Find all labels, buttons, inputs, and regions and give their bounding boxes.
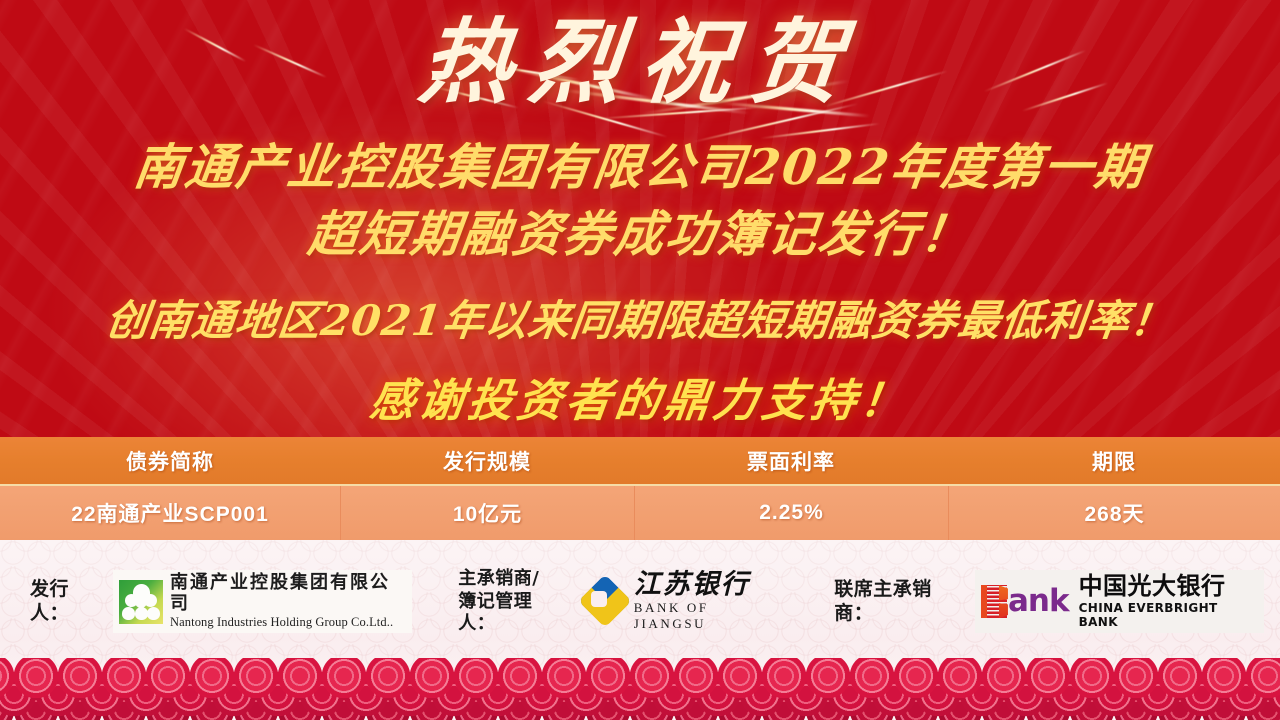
joint-underwriter-group: 联席主承销商： ank 中国光大银行 CHINA EVERBRIGHT BANK — [834, 570, 1264, 633]
bank-of-jiangsu-logo-icon — [580, 580, 628, 624]
celebration-poster: 热烈祝贺 南通产业控股集团有限公司2022年度第一期 超短期融资券成功簿记发行！… — [0, 0, 1280, 720]
footer-panel: 发行人： 南通产业控股集团有限公司 Nantong Industries Hol… — [0, 540, 1280, 720]
poster-title-area: 热烈祝贺 — [0, 14, 1280, 112]
lead-underwriter-label: 主承销商/ 簿记管理人： — [458, 568, 568, 636]
table-cell-bond-name: 22南通产业SCP001 — [0, 486, 340, 540]
headline-line-1: 南通产业控股集团有限公司2022年度第一期 — [0, 136, 1280, 199]
partners-row: 发行人： 南通产业控股集团有限公司 Nantong Industries Hol… — [0, 568, 1280, 636]
issuer-name-block: 南通产业控股集团有限公司 Nantong Industries Holding … — [170, 573, 406, 630]
joint-underwriter-logo-card: ank 中国光大银行 CHINA EVERBRIGHT BANK — [975, 570, 1264, 633]
headline-line-4: 感谢投资者的鼎力支持！ — [0, 364, 1280, 429]
table-cell-coupon-rate: 2.25% — [634, 486, 948, 540]
table-header-bond-name: 债券简称 — [0, 437, 340, 484]
headline-line-3: 创南通地区2021年以来同期限超短期融资券最低利率！ — [0, 287, 1280, 348]
poster-title: 热烈祝贺 — [0, 14, 1280, 112]
issuer-name-cn: 南通产业控股集团有限公司 — [170, 573, 406, 614]
lead-underwriter-group: 主承销商/ 簿记管理人： 江苏银行 BANK OF JIANGSU — [458, 568, 790, 636]
bottom-wave-decoration — [0, 658, 1280, 720]
everbright-name-block: 中国光大银行 CHINA EVERBRIGHT BANK — [1079, 574, 1258, 629]
bond-info-table: 债券简称 发行规模 票面利率 期限 22南通产业SCP001 10亿元 2.25… — [0, 437, 1280, 540]
table-header-coupon-rate: 票面利率 — [634, 437, 948, 484]
everbright-name-en: CHINA EVERBRIGHT BANK — [1079, 601, 1258, 629]
joint-underwriter-label: 联席主承销商： — [834, 578, 969, 626]
issuer-label: 发行人： — [30, 578, 107, 626]
table-cell-term: 268天 — [948, 486, 1280, 540]
everbright-b-mark-icon — [981, 585, 1007, 618]
lead-underwriter-logo-card: 江苏银行 BANK OF JIANGSU — [574, 568, 790, 635]
table-header-issue-size: 发行规模 — [340, 437, 634, 484]
headline-line-2: 超短期融资券成功簿记发行！ — [0, 203, 1280, 266]
wave-row-front — [0, 658, 1280, 700]
everbright-name-cn: 中国光大银行 — [1079, 574, 1258, 599]
bank-of-jiangsu-name-block: 江苏银行 BANK OF JIANGSU — [634, 571, 784, 632]
table-row: 22南通产业SCP001 10亿元 2.25% 268天 — [0, 486, 1280, 540]
china-everbright-bank-logo-icon: ank — [981, 585, 1069, 618]
bank-of-jiangsu-name-cn: 江苏银行 — [634, 571, 784, 598]
issuer-group: 发行人： 南通产业控股集团有限公司 Nantong Industries Hol… — [30, 570, 412, 633]
table-cell-issue-size: 10亿元 — [340, 486, 634, 540]
table-header-term: 期限 — [948, 437, 1280, 484]
poster-headline-block: 南通产业控股集团有限公司2022年度第一期 超短期融资券成功簿记发行！ 创南通地… — [0, 136, 1280, 429]
issuer-name-en: Nantong Industries Holding Group Co.Ltd.… — [170, 615, 406, 630]
bank-of-jiangsu-name-en: BANK OF JIANGSU — [634, 600, 784, 632]
issuer-logo-card: 南通产业控股集团有限公司 Nantong Industries Holding … — [113, 570, 412, 633]
table-header-row: 债券简称 发行规模 票面利率 期限 — [0, 437, 1280, 486]
everbright-logo-wordmark: ank — [1008, 586, 1069, 617]
nantong-tree-logo-icon — [119, 580, 163, 624]
